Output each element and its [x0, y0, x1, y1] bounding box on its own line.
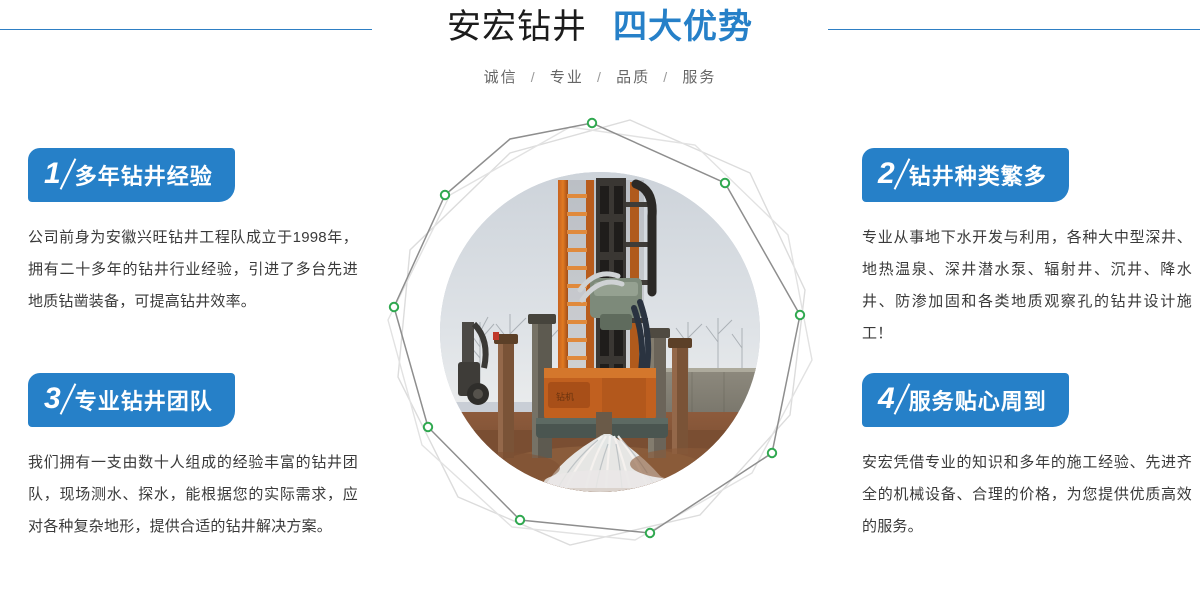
polygon-node-lower-right — [768, 449, 776, 457]
badge-number-icon: 2 — [878, 159, 899, 189]
advantage-body-2: 专业从事地下水开发与利用，各种大中型深井、地热温泉、深井潜水泵、辐射井、沉井、降… — [862, 222, 1192, 350]
tagline-word-professional: 专业 — [550, 69, 584, 86]
polygon-node-upper-right — [721, 179, 729, 187]
advantage-title-3: 专业钻井团队 — [75, 384, 213, 416]
advantage-body-1: 公司前身为安徽兴旺钻井工程队成立于1998年，拥有二十多年的钻井行业经验，引进了… — [28, 222, 358, 318]
page-title: 安宏钻井四大优势 — [0, 10, 1200, 44]
advantage-title-2: 钻井种类繁多 — [909, 159, 1047, 191]
advantage-card-4: 4 服务贴心周到 安宏凭借专业的知识和多年的施工经验、先进齐全的机械设备、合理的… — [862, 373, 1192, 543]
advantage-card-3: 3 专业钻井团队 我们拥有一支由数十人组成的经验丰富的钻井团队，现场测水、探水，… — [28, 373, 358, 543]
polygon-node-left-lower — [424, 423, 432, 431]
badge-number-icon: 4 — [878, 384, 899, 414]
advantage-title-1: 多年钻井经验 — [75, 159, 213, 191]
polygon-node-upper-left — [441, 191, 449, 199]
advantage-badge-2: 2 钻井种类繁多 — [862, 148, 1069, 202]
drilling-rig-photo: 钻机 — [440, 172, 760, 492]
advantage-body-3: 我们拥有一支由数十人组成的经验丰富的钻井团队，现场测水、探水，能根据您的实际需求… — [28, 447, 358, 543]
subtitle-tagline: 诚信 / 专业 / 品质 / 服务 — [0, 66, 1200, 87]
tagline-separator: / — [597, 69, 603, 85]
page-header: 安宏钻井四大优势 诚信 / 专业 / 品质 / 服务 — [0, 0, 1200, 110]
advantage-card-1: 1 多年钻井经验 公司前身为安徽兴旺钻井工程队成立于1998年，拥有二十多年的钻… — [28, 148, 358, 318]
advantage-title-4: 服务贴心周到 — [909, 384, 1047, 416]
polygon-node-lower-left — [516, 516, 524, 524]
polygon-node-left — [390, 303, 398, 311]
tagline-word-integrity: 诚信 — [484, 69, 518, 86]
polygon-node-top — [588, 119, 596, 127]
tagline-separator: / — [663, 69, 669, 85]
advantage-badge-3: 3 专业钻井团队 — [28, 373, 235, 427]
tagline-separator: / — [531, 69, 537, 85]
advantage-badge-4: 4 服务贴心周到 — [862, 373, 1069, 427]
tagline-word-quality: 品质 — [616, 69, 650, 86]
title-accent-text: 四大优势 — [613, 8, 753, 46]
badge-number-icon: 1 — [44, 159, 65, 189]
advantage-badge-1: 1 多年钻井经验 — [28, 148, 235, 202]
polygon-node-right — [796, 311, 804, 319]
badge-number-icon: 3 — [44, 384, 65, 414]
drilling-rig-illustration: 钻机 — [440, 172, 760, 492]
svg-text:钻机: 钻机 — [556, 391, 574, 403]
advantage-body-4: 安宏凭借专业的知识和多年的施工经验、先进齐全的机械设备、合理的价格，为您提供优质… — [862, 447, 1192, 543]
title-company-name: 安宏钻井 — [447, 8, 587, 46]
polygon-node-bottom — [646, 529, 654, 537]
advantage-card-2: 2 钻井种类繁多 专业从事地下水开发与利用，各种大中型深井、地热温泉、深井潜水泵… — [862, 148, 1192, 350]
tagline-word-service: 服务 — [682, 69, 716, 86]
